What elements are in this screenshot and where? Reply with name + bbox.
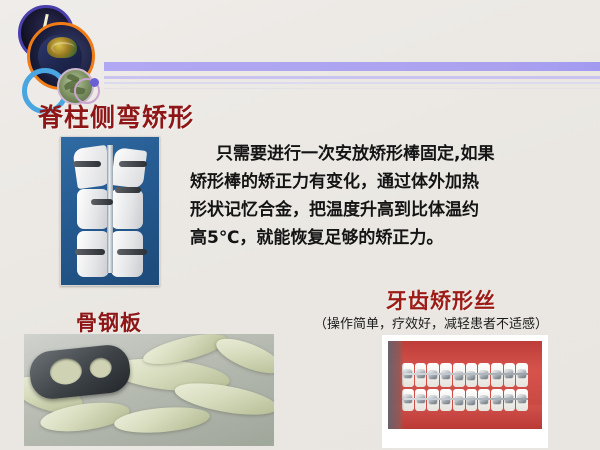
spine-model-photo — [60, 136, 160, 286]
header-accent-bar-secondary — [104, 76, 600, 79]
header-decoration-group — [0, 0, 300, 110]
body-paragraph: 只需要进行一次安放矫形棒固定,如果 矫形棒的矫正力有变化，通过体外加热 形状记忆… — [190, 140, 566, 252]
bone-plate-title: 骨钢板 — [76, 307, 142, 337]
body-line-2: 矫形棒的矫正力有变化，通过体外加热 — [190, 168, 566, 196]
body-line-4: 高5℃，就能恢复足够的矫正力。 — [190, 224, 566, 252]
body-line-3: 形状记忆合金，把温度升高到比体温约 — [190, 196, 566, 224]
header-accent-bar-primary — [104, 62, 600, 71]
body-line-1: 只需要进行一次安放矫形棒固定,如果 — [190, 140, 566, 168]
spine-section-title: 脊柱侧弯矫形 — [38, 98, 194, 134]
slide-canvas: 脊柱侧弯矫形 只需要进行一次安放矫形棒固定,如果 矫形棒的矫正力有变化，通过体外… — [0, 0, 600, 450]
dental-wire-title: 牙齿矫形丝 — [386, 285, 496, 315]
dental-wire-subtitle: （操作简单，疗效好，减轻患者不适感） — [314, 313, 548, 332]
header-accent-bar-quaternary — [104, 88, 600, 89]
bone-plate-photo — [24, 334, 274, 446]
dental-braces-photo — [388, 341, 542, 429]
purple-dot-icon — [90, 78, 99, 87]
header-accent-bar-tertiary — [104, 82, 600, 84]
